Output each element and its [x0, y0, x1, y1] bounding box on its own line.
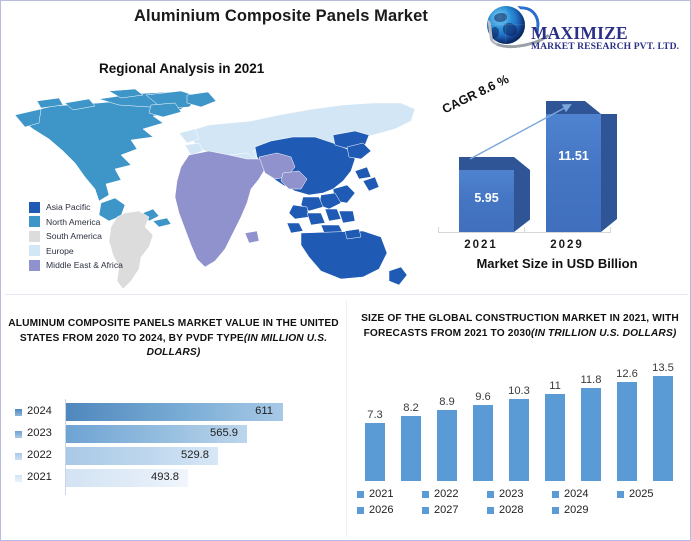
us-acp-pvdf-chart: 2024 611 2023 565.9 2022 529.8 2021 493.… — [7, 399, 340, 499]
vbar-bar-2026 — [545, 394, 565, 481]
hbar-value-2024: 611 — [207, 405, 273, 417]
legend-swatch-europe — [29, 245, 40, 256]
legend-label-middle-east-africa: Middle East & Africa — [46, 260, 123, 270]
legend-label-north-america: North America — [46, 217, 100, 227]
horizontal-divider — [5, 294, 688, 295]
vbar-legend-label-2027: 2027 — [434, 504, 458, 516]
hbar-row-2024: 2024 611 — [7, 403, 340, 421]
vbar-legend-swatch-2021 — [357, 491, 364, 498]
regional-analysis-heading: Regional Analysis in 2021 — [99, 61, 264, 76]
global-construction-chart-title: SIZE OF THE GLOBAL CONSTRUCTION MARKET I… — [353, 312, 687, 341]
vbar-col-2027: 11.8 — [581, 373, 601, 481]
vbar-legend-label-2022: 2022 — [434, 488, 458, 500]
vbar-legend-swatch-2025 — [617, 491, 624, 498]
vbar-col-2026: 11 — [545, 373, 565, 481]
vbar-legend-label-2025: 2025 — [629, 488, 653, 500]
vbar-bar-2029 — [653, 376, 673, 481]
vbar-legend-swatch-2023 — [487, 491, 494, 498]
vbar-bar-2021 — [365, 423, 385, 481]
vbar-legend-item-2027: 2027 — [422, 504, 458, 516]
us-acp-chart-title: ALUMINUM COMPOSITE PANELS MARKET VALUE I… — [7, 317, 340, 361]
vbar-legend-label-2029: 2029 — [564, 504, 588, 516]
bar3d-value-2021: 5.95 — [459, 191, 514, 205]
vbar-legend-label-2028: 2028 — [499, 504, 523, 516]
legend-item-europe: Europe — [29, 244, 123, 259]
vbar-legend-label-2023: 2023 — [499, 488, 523, 500]
world-map: Asia Pacific North America South America… — [3, 85, 421, 293]
axis-tick-end — [610, 227, 611, 233]
vbar-legend-label-2026: 2026 — [369, 504, 393, 516]
legend-item-middle-east-africa: Middle East & Africa — [29, 258, 123, 273]
vbar-legend-swatch-2028 — [487, 507, 494, 514]
bar3d-value-2029: 11.51 — [546, 149, 601, 163]
hbar-row-2022: 2022 529.8 — [7, 447, 340, 465]
vbar-legend-swatch-2022 — [422, 491, 429, 498]
legend-swatch-asia-pacific — [29, 202, 40, 213]
bar3d-xlabel-2029: 2029 — [524, 239, 610, 251]
vbar-legend-swatch-2027 — [422, 507, 429, 514]
legend-swatch-south-america — [29, 231, 40, 242]
vbar-bar-2022 — [401, 416, 421, 481]
map-legend: Asia Pacific North America South America… — [29, 200, 123, 273]
hbar-label-2024: 2024 — [27, 405, 52, 417]
vbar-bar-2028 — [617, 382, 637, 481]
legend-item-south-america: South America — [29, 229, 123, 244]
bar3d-2021: 5.95 — [459, 157, 514, 232]
legend-label-asia-pacific: Asia Pacific — [46, 202, 90, 212]
vbar-legend-item-2028: 2028 — [487, 504, 523, 516]
hbar-label-2022: 2022 — [27, 449, 52, 461]
legend-swatch-middle-east-africa — [29, 260, 40, 271]
vbar-col-2024: 9.6 — [473, 373, 493, 481]
vbar-legend-item-2021: 2021 — [357, 488, 393, 500]
page-title: Aluminium Composite Panels Market — [1, 7, 561, 26]
hbar-label-2021: 2021 — [27, 471, 52, 483]
bar3d-xlabel-2021: 2021 — [438, 239, 524, 251]
hbar-value-2023: 565.9 — [167, 427, 238, 439]
company-logo: MAXIMIZE MARKET RESEARCH PVT. LTD. — [487, 5, 687, 53]
axis-tick-mid — [524, 227, 525, 233]
vbar-bar-2027 — [581, 388, 601, 481]
cagr-annotation: CAGR 8.6 % — [440, 72, 511, 116]
vbar-col-2028: 12.6 — [617, 373, 637, 481]
legend-item-north-america: North America — [29, 215, 123, 230]
vbar-bar-2025 — [509, 399, 529, 481]
hbar-swatch-2023 — [15, 431, 22, 438]
vbar-legend-item-2022: 2022 — [422, 488, 458, 500]
vbar-legend-swatch-2026 — [357, 507, 364, 514]
vbar-col-2021: 7.3 — [365, 373, 385, 481]
infographic-page: Aluminium Composite Panels Market MAXIMI… — [0, 0, 691, 541]
global-construction-title-units: (IN TRILLION U.S. DOLLARS) — [531, 328, 676, 339]
vbar-col-2029: 13.5 — [653, 373, 673, 481]
vbar-bar-2024 — [473, 405, 493, 481]
bar3d-2029: 11.51 — [546, 101, 601, 232]
hbar-row-2023: 2023 565.9 — [7, 425, 340, 443]
vbar-col-2023: 8.9 — [437, 373, 457, 481]
legend-swatch-north-america — [29, 216, 40, 227]
vbar-legend-item-2024: 2024 — [552, 488, 588, 500]
vbar-bar-2023 — [437, 410, 457, 481]
market-size-caption: Market Size in USD Billion — [426, 256, 688, 271]
vbar-legend-item-2029: 2029 — [552, 504, 588, 516]
global-construction-chart: 7.3 8.2 8.9 9.6 10.3 11 11.8 12.6 — [357, 373, 685, 481]
hbar-swatch-2022 — [15, 453, 22, 460]
hbar-value-2021: 493.8 — [108, 471, 179, 483]
vertical-divider — [346, 301, 347, 537]
map-region-middle-east-africa — [175, 151, 307, 267]
logo-tagline-text: MARKET RESEARCH PVT. LTD. — [531, 41, 679, 52]
legend-label-europe: Europe — [46, 246, 74, 256]
hbar-label-2023: 2023 — [27, 427, 52, 439]
hbar-value-2022: 529.8 — [138, 449, 209, 461]
vbar-legend-item-2023: 2023 — [487, 488, 523, 500]
vbar-legend-swatch-2029 — [552, 507, 559, 514]
vbar-col-2022: 8.2 — [401, 373, 421, 481]
hbar-swatch-2021 — [15, 475, 22, 482]
vbar-legend-label-2024: 2024 — [564, 488, 588, 500]
vbar-legend-swatch-2024 — [552, 491, 559, 498]
legend-item-asia-pacific: Asia Pacific — [29, 200, 123, 215]
vbar-legend-label-2021: 2021 — [369, 488, 393, 500]
hbar-swatch-2024 — [15, 409, 22, 416]
vbar-legend-item-2026: 2026 — [357, 504, 393, 516]
legend-label-south-america: South America — [46, 231, 102, 241]
vbar-legend-item-2025: 2025 — [617, 488, 653, 500]
axis-tick-start — [438, 227, 439, 233]
vbar-col-2025: 10.3 — [509, 373, 529, 481]
hbar-row-2021: 2021 493.8 — [7, 469, 340, 487]
vbar-value-2029: 13.5 — [640, 362, 686, 374]
